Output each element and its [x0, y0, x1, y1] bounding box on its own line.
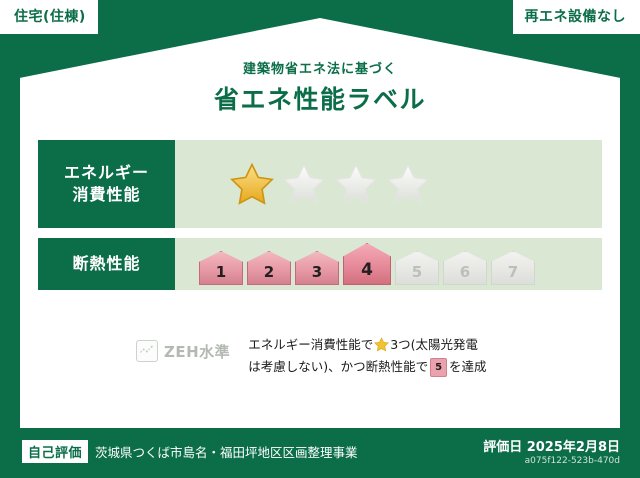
inline-star-icon	[374, 337, 389, 352]
star-icon-empty	[282, 162, 326, 206]
energy-performance-row-label: エネルギー 消費性能	[38, 140, 175, 228]
insulation-performance-row: 断熱性能 1234567	[38, 238, 602, 290]
star-icon-empty	[386, 162, 430, 206]
energy-label-line-2: 消費性能	[72, 184, 140, 206]
zeh-note-section: ZEH水準 エネルギー消費性能で3つ(太陽光発電 は考慮しない)、かつ断熱性能で…	[38, 334, 602, 378]
energy-label-line-1: エネルギー	[64, 162, 149, 184]
label-title: 省エネ性能ラベル	[0, 80, 640, 116]
insulation-grade-number: 3	[312, 265, 322, 285]
insulation-performance-row-body: 1234567	[175, 243, 602, 285]
evaluation-id: a075f122-523b-470d	[525, 456, 620, 466]
energy-performance-row-body	[175, 162, 602, 206]
insulation-grade-number: 5	[412, 265, 422, 285]
insulation-grade-badge-4: 4	[343, 243, 391, 285]
star-icon-filled	[230, 162, 274, 206]
zeh-standard-label: ZEH水準	[164, 341, 230, 362]
insulation-label-line-1: 断熱性能	[72, 253, 140, 275]
insulation-grade-badge-3: 3	[295, 251, 339, 285]
star-rating	[175, 162, 430, 206]
label-footer: 自己評価 茨城県つくば市島名・福田坪地区区画整理事業 評価日 2025年2月8日…	[0, 428, 640, 478]
zeh-note-line1-post: 3つ(太陽光発電	[390, 337, 478, 352]
star-icon-empty	[334, 162, 378, 206]
evaluation-date: 評価日 2025年2月8日	[483, 436, 620, 455]
renewable-energy-tag: 再エネ設備なし	[513, 0, 640, 34]
label-subtitle: 建築物省エネ法に基づく	[0, 58, 640, 77]
insulation-grade-number: 4	[361, 262, 373, 285]
insulation-grade-number: 7	[508, 265, 518, 285]
insulation-grade-scale: 1234567	[175, 243, 535, 285]
zeh-note-line2-post: を達成	[449, 359, 487, 374]
zeh-icon	[136, 340, 158, 362]
insulation-grade-badge-2: 2	[247, 251, 291, 285]
insulation-grade-badge-5: 5	[395, 251, 439, 285]
insulation-performance-row-label: 断熱性能	[38, 238, 175, 290]
energy-performance-row: エネルギー 消費性能	[38, 140, 602, 228]
insulation-grade-number: 2	[264, 265, 274, 285]
zeh-note-line1-pre: エネルギー消費性能で	[248, 337, 373, 352]
zeh-criteria-text: エネルギー消費性能で3つ(太陽光発電 は考慮しない)、かつ断熱性能で5を達成	[230, 334, 486, 378]
property-address: 茨城県つくば市島名・福田坪地区区画整理事業	[95, 442, 358, 461]
insulation-grade-badge-6: 6	[443, 251, 487, 285]
zeh-note-line2-pre: は考慮しない)、かつ断熱性能で	[248, 359, 428, 374]
insulation-grade-number: 6	[460, 265, 470, 285]
insulation-grade-badge-7: 7	[491, 251, 535, 285]
insulation-grade-number: 1	[216, 265, 226, 285]
self-evaluation-badge: 自己評価	[22, 440, 88, 463]
building-type-tag: 住宅(住棟)	[0, 0, 98, 34]
energy-performance-label: 住宅(住棟) 再エネ設備なし 建築物省エネ法に基づく 省エネ性能ラベル エネルギ…	[0, 0, 640, 478]
insulation-grade-badge-1: 1	[199, 251, 243, 285]
inline-grade-badge: 5	[430, 358, 447, 378]
zeh-standard-indicator: ZEH水準	[38, 334, 230, 362]
